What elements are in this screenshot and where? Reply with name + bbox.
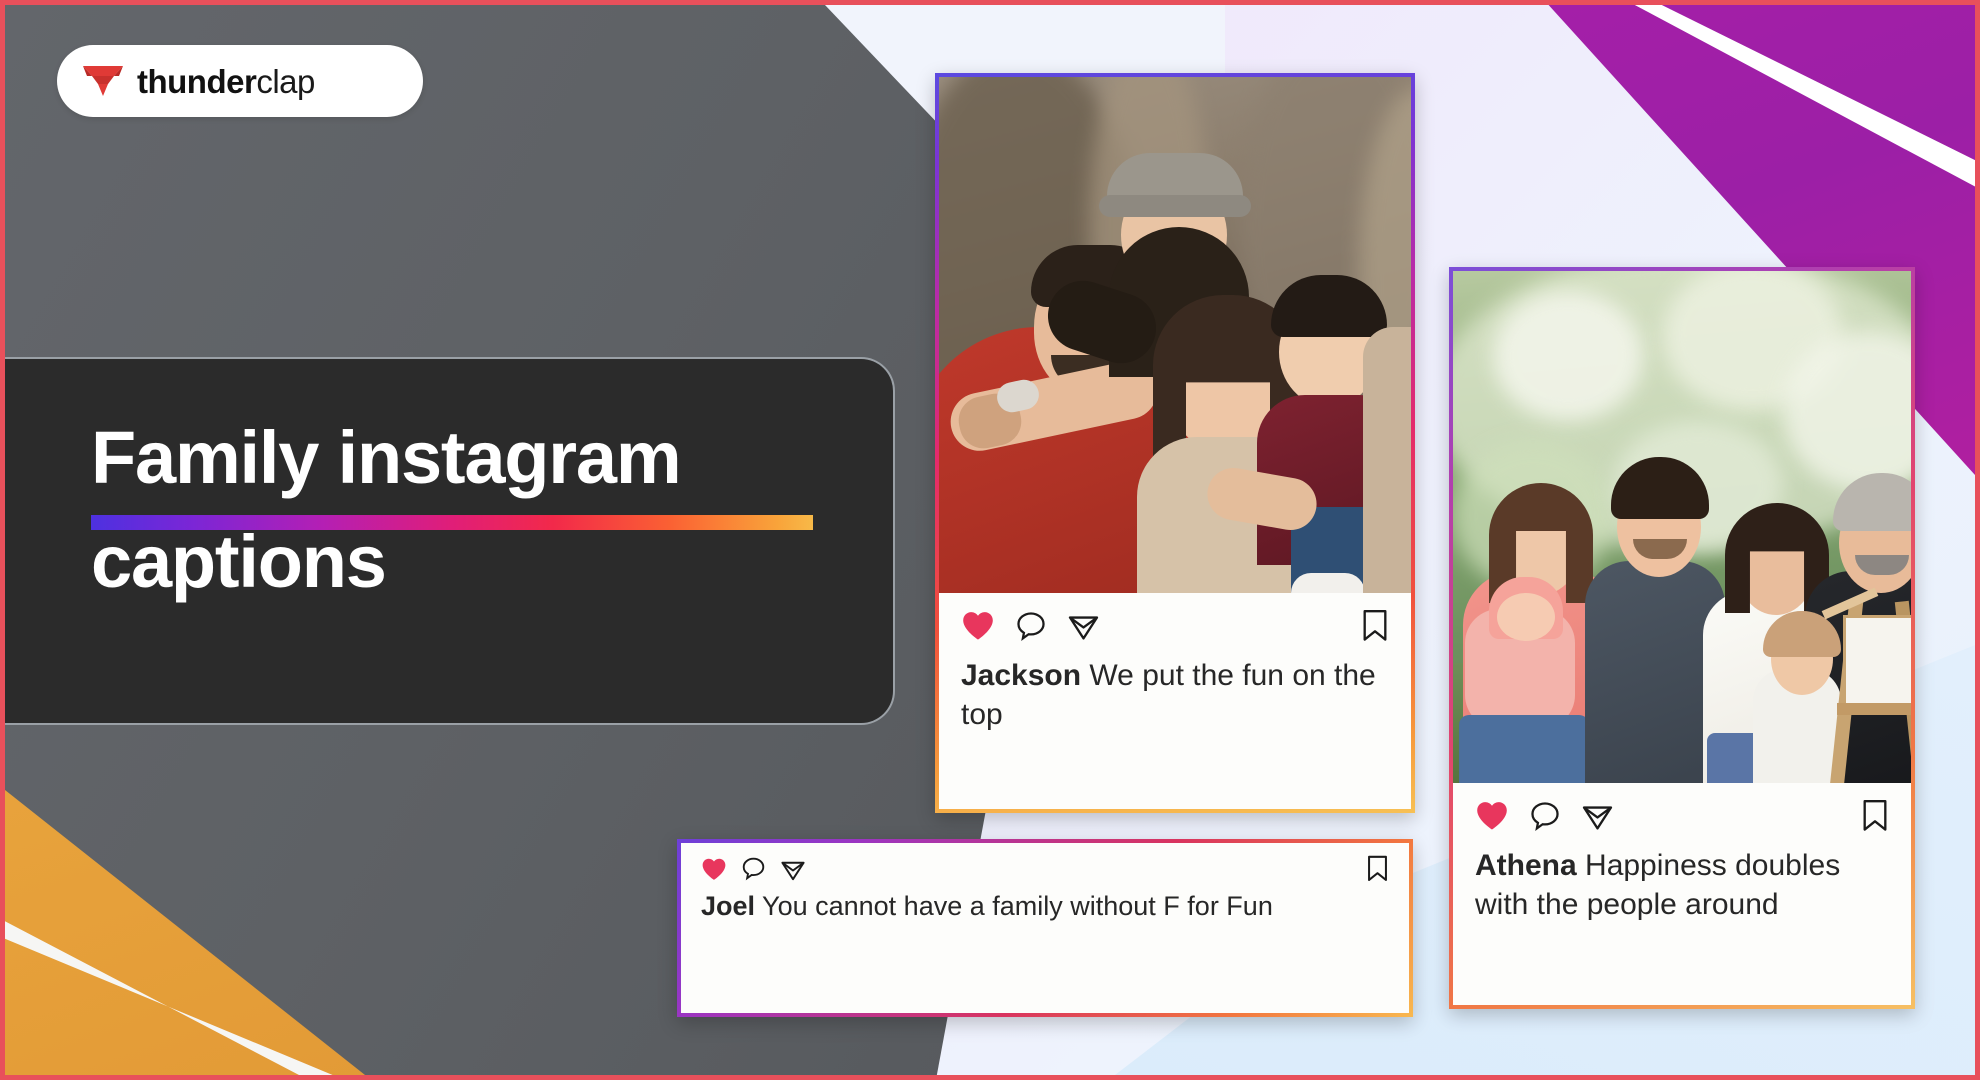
post-photo-athena bbox=[1453, 271, 1911, 783]
title-gradient-underline bbox=[91, 515, 813, 530]
post-actions-athena[interactable] bbox=[1475, 799, 1889, 832]
brand-wordmark: thunderclap bbox=[137, 65, 315, 98]
like-icon[interactable] bbox=[1475, 800, 1509, 831]
instagram-post-joel[interactable]: Joel You cannot have a family without F … bbox=[677, 839, 1413, 1017]
instagram-post-jackson[interactable]: Jackson We put the fun on the top bbox=[935, 73, 1415, 813]
share-icon[interactable] bbox=[780, 856, 806, 882]
share-icon[interactable] bbox=[1067, 609, 1100, 642]
post-caption-jackson: Jackson We put the fun on the top bbox=[961, 656, 1389, 734]
post-username-athena: Athena bbox=[1475, 849, 1577, 882]
post-caption-text-joel: You cannot have a family without F for F… bbox=[755, 891, 1273, 921]
comment-icon[interactable] bbox=[1529, 800, 1561, 832]
poster-canvas: thunderclap Family instagram captions bbox=[0, 0, 1980, 1080]
post-actions-joel[interactable] bbox=[701, 855, 1389, 882]
like-icon[interactable] bbox=[701, 857, 727, 881]
bookmark-icon[interactable] bbox=[1361, 609, 1389, 642]
page-title-line-2: captions bbox=[91, 519, 881, 605]
post-username-joel: Joel bbox=[701, 891, 755, 921]
post-caption-athena: Athena Happiness doubles with the people… bbox=[1475, 846, 1889, 924]
bookmark-icon[interactable] bbox=[1861, 799, 1889, 832]
brand-logo[interactable]: thunderclap bbox=[57, 45, 423, 117]
page-title-line-1: Family instagram bbox=[91, 415, 881, 501]
like-icon[interactable] bbox=[961, 610, 995, 641]
post-actions-jackson[interactable] bbox=[961, 609, 1389, 642]
post-caption-joel: Joel You cannot have a family without F … bbox=[701, 890, 1389, 923]
post-username-jackson: Jackson bbox=[961, 659, 1081, 692]
page-title: Family instagram captions bbox=[91, 415, 881, 605]
brand-name-light: clap bbox=[256, 63, 315, 100]
bookmark-icon[interactable] bbox=[1366, 855, 1389, 882]
comment-icon[interactable] bbox=[1015, 610, 1047, 642]
thunderclap-mark-icon bbox=[81, 63, 125, 99]
share-icon[interactable] bbox=[1581, 799, 1614, 832]
comment-icon[interactable] bbox=[741, 856, 766, 881]
post-photo-jackson bbox=[939, 77, 1411, 593]
instagram-post-athena[interactable]: Athena Happiness doubles with the people… bbox=[1449, 267, 1915, 1009]
brand-name-bold: thunder bbox=[137, 63, 256, 100]
